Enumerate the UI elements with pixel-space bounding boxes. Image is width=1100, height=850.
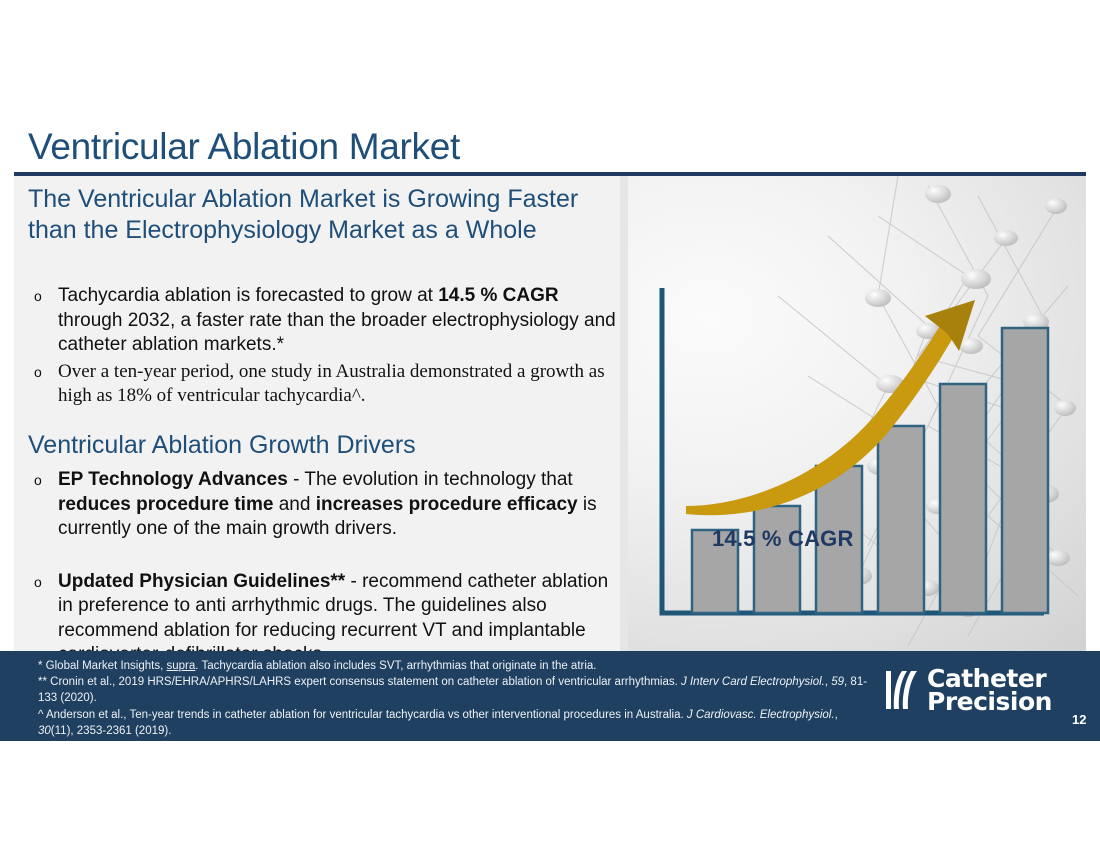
bullet-marker-icon: o	[34, 570, 42, 595]
bullet-text: Tachycardia ablation is forecasted to gr…	[58, 285, 438, 306]
logo-wordmark: Catheter Precision	[927, 667, 1052, 714]
content-panel: The Ventricular Ablation Market is Growi…	[14, 176, 628, 651]
driver-bullet-list: oEP Technology Advances - The evolution …	[28, 468, 628, 651]
bullet-marker-icon: o	[34, 468, 42, 493]
catheter-precision-mark-icon	[886, 669, 920, 711]
footnote-text: (11), 2353-2361 (2019).	[51, 725, 172, 737]
bullet-emphasis: reduces procedure time	[58, 494, 273, 515]
footnotes: * Global Market Insights, supra. Tachyca…	[38, 658, 868, 739]
list-item: oUpdated Physician Guidelines** - recomm…	[28, 570, 628, 652]
footnote-text: 59	[831, 676, 844, 688]
footnote-text: * Global Market Insights,	[38, 660, 166, 672]
bullet-text: through 2032, a faster rate than the bro…	[58, 310, 616, 356]
slide-canvas: Ventricular Ablation Market The Ventricu…	[0, 0, 1100, 850]
list-item: oTachycardia ablation is forecasted to g…	[28, 284, 628, 358]
bullet-emphasis: EP Technology Advances	[58, 469, 288, 490]
bullet-marker-icon: o	[34, 284, 42, 309]
footnote-text: 30	[38, 725, 51, 737]
page-number: 12	[1072, 712, 1086, 727]
list-item: oOver a ten-year period, one study in Au…	[28, 360, 628, 408]
footnote-text: ^ Anderson et al., Ten-year trends in ca…	[38, 709, 687, 721]
logo-line-2: Precision	[927, 690, 1052, 713]
footnote-line: ** Cronin et al., 2019 HRS/EHRA/APHRS/LA…	[38, 674, 868, 706]
bullet-text: and	[273, 494, 315, 515]
bullet-emphasis: increases procedure efficacy	[316, 494, 578, 515]
footnote-line: * Global Market Insights, supra. Tachyca…	[38, 658, 868, 674]
panel-edge	[620, 176, 628, 651]
list-item: oEP Technology Advances - The evolution …	[28, 468, 628, 542]
slide-footer: * Global Market Insights, supra. Tachyca…	[0, 651, 1100, 741]
company-logo: Catheter Precision	[886, 667, 1052, 714]
cagr-annotation: 14.5 % CAGR	[712, 526, 854, 552]
footnote-text: J Interv Card Electrophysiol.	[681, 676, 825, 688]
chart-bars	[692, 328, 1048, 613]
growth-drivers-heading: Ventricular Ablation Growth Drivers	[28, 431, 416, 460]
footnote-text: ,	[835, 709, 838, 721]
bullet-text: Over a ten-year period, one study in Aus…	[58, 361, 605, 406]
bullet-marker-icon: o	[34, 360, 42, 384]
bullet-emphasis: 14.5 % CAGR	[438, 285, 558, 306]
bar-chart-graphic	[628, 176, 1086, 651]
footnote-text: . Tachycardia ablation also includes SVT…	[195, 660, 596, 672]
footnote-text: ** Cronin et al., 2019 HRS/EHRA/APHRS/LA…	[38, 676, 681, 688]
lead-heading: The Ventricular Ablation Market is Growi…	[28, 184, 614, 246]
bullet-text: - The evolution in technology that	[288, 469, 573, 490]
footnote-text: supra	[166, 660, 195, 672]
top-bullet-list: oTachycardia ablation is forecasted to g…	[28, 284, 628, 408]
bullet-emphasis: Updated Physician Guidelines**	[58, 571, 345, 592]
footnote-text: J Cardiovasc. Electrophysiol.	[687, 709, 835, 721]
growth-chart-panel: 14.5 % CAGR	[628, 176, 1086, 651]
footnote-line: ^ Anderson et al., Ten-year trends in ca…	[38, 707, 868, 739]
page-title: Ventricular Ablation Market	[28, 126, 460, 168]
